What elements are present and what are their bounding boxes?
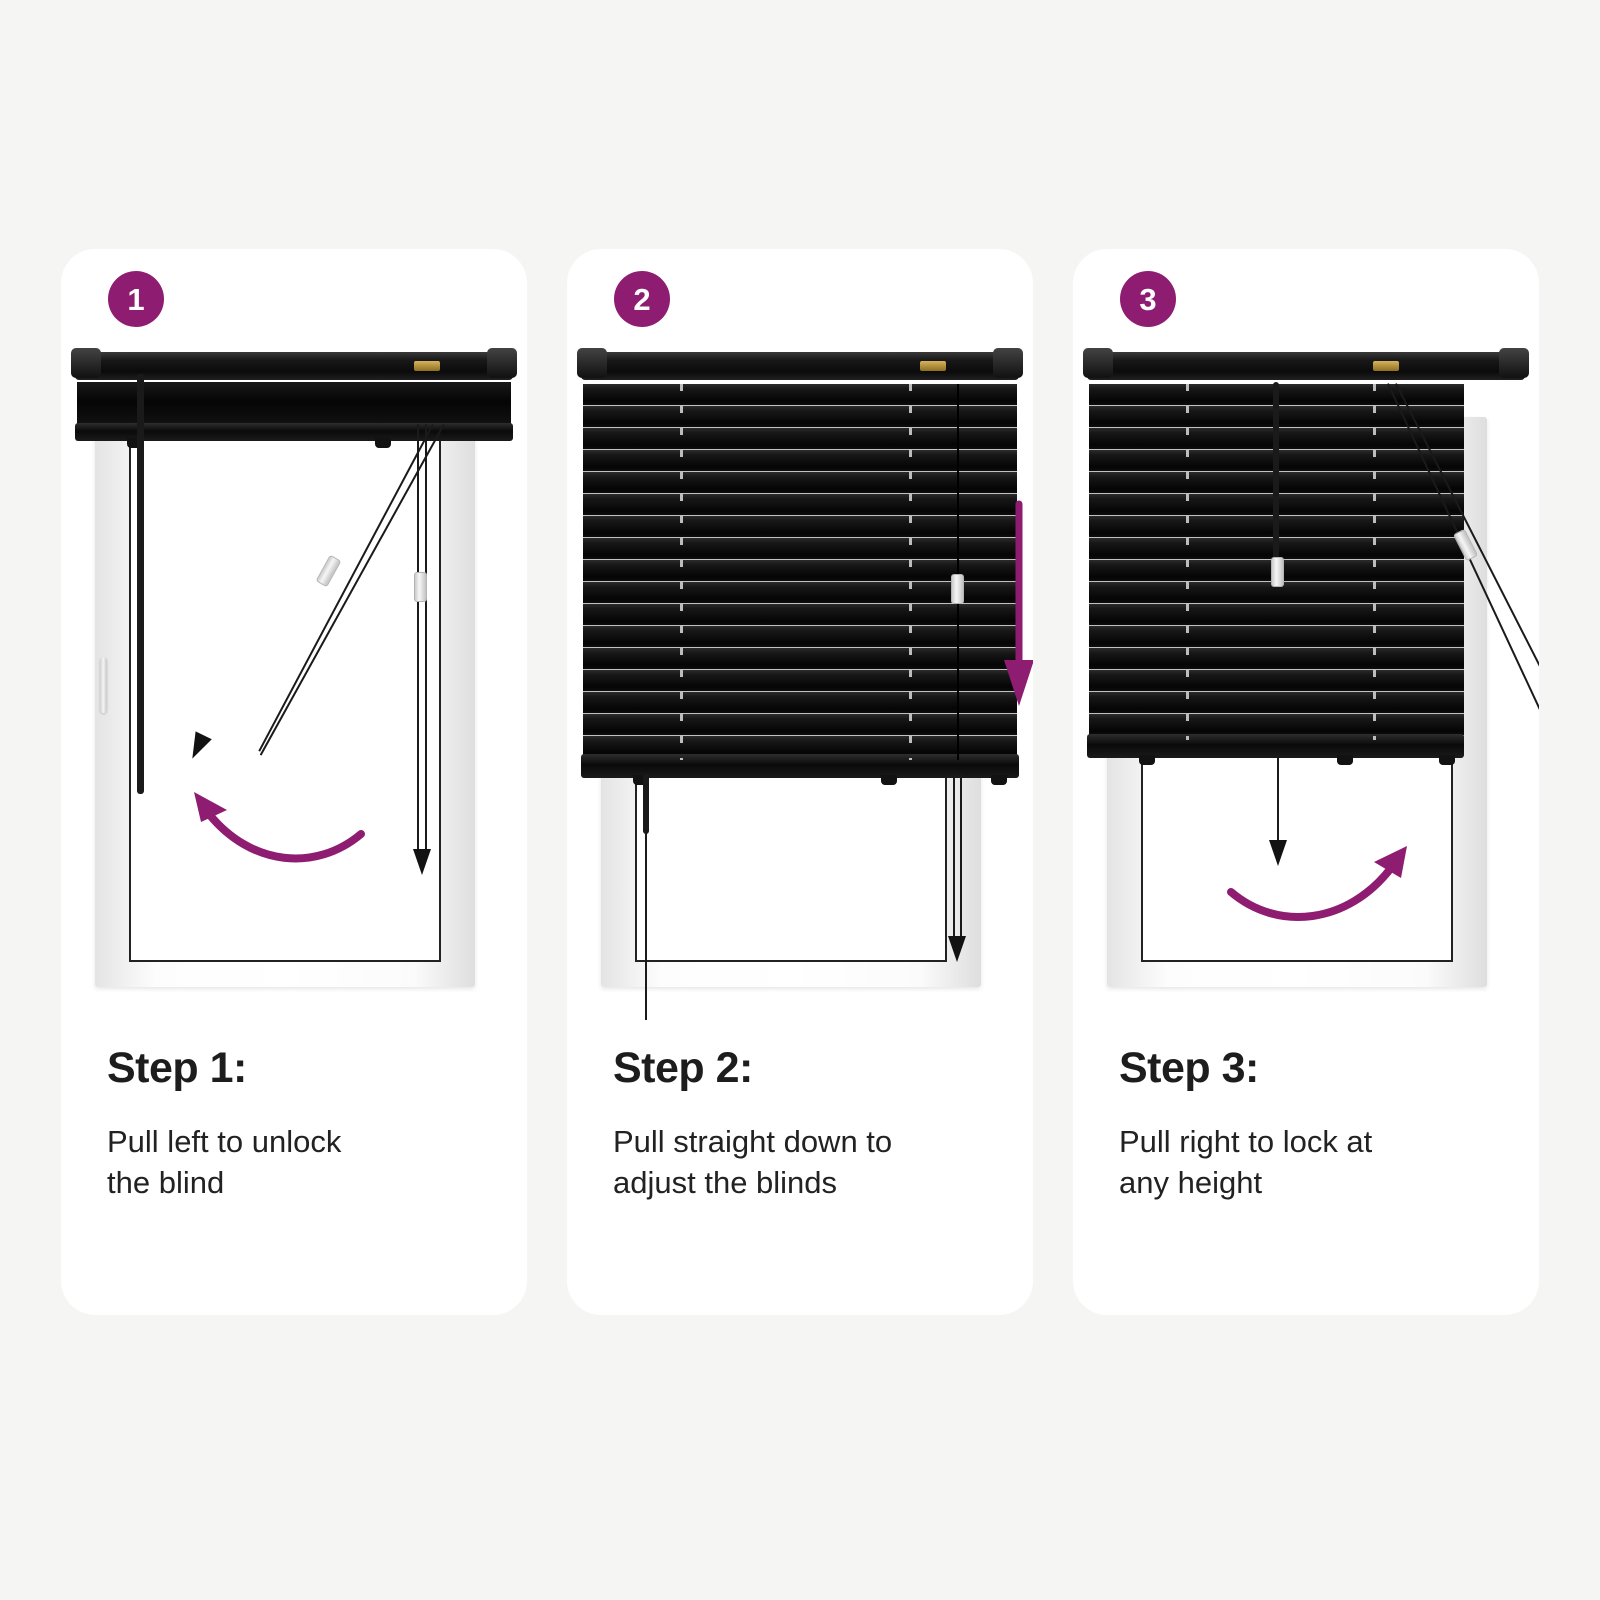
lift-cord-a: [953, 774, 955, 944]
cord-tassel[interactable]: [948, 936, 966, 962]
step-desc-line1: Pull straight down to: [613, 1122, 1003, 1163]
lift-cord-b: [960, 774, 962, 944]
tilt-wand-cord: [1273, 382, 1279, 562]
caption-step-3: Step 3: Pull right to lock at any height: [1119, 1044, 1509, 1204]
lift-cord-d: [425, 424, 427, 854]
step-desc-1: Pull left to unlock the blind: [107, 1122, 497, 1204]
illustration-step-3: [1073, 344, 1539, 1024]
step-number-badge-1: 1: [108, 271, 164, 327]
step-title-2: Step 2:: [613, 1044, 1003, 1093]
caption-step-2: Step 2: Pull straight down to adjust the…: [613, 1044, 1003, 1204]
caption-step-1: Step 1: Pull left to unlock the blind: [107, 1044, 497, 1204]
cord-lock-mechanism: [920, 361, 946, 371]
blind-bottom-rail: [1087, 734, 1464, 758]
ladder-cord-right: [909, 384, 912, 760]
step-desc-line1: Pull right to lock at: [1119, 1122, 1509, 1163]
illustration-step-1: [61, 344, 527, 1024]
cord-toggle-vertical[interactable]: [1271, 557, 1284, 587]
cord-tassel-vertical[interactable]: [1269, 840, 1287, 866]
step-desc-2: Pull straight down to adjust the blinds: [613, 1122, 1003, 1204]
blind-headrail: [581, 352, 1019, 380]
instruction-steps-board: 1: [0, 0, 1600, 1600]
step-desc-line2: adjust the blinds: [613, 1163, 1003, 1204]
step-desc-line2: the blind: [107, 1163, 497, 1204]
ladder-cord-left: [1186, 384, 1189, 740]
window-handle: [100, 657, 107, 713]
step-number-badge-3: 3: [1120, 271, 1176, 327]
cord-lock-mechanism: [414, 361, 440, 371]
step-desc-3: Pull right to lock at any height: [1119, 1122, 1509, 1204]
step-title-3: Step 3:: [1119, 1044, 1509, 1093]
ladder-cord-right: [1373, 384, 1376, 740]
tilt-cord-tail: [645, 832, 647, 1020]
step-title-1: Step 1:: [107, 1044, 497, 1093]
cord-tassel-vertical[interactable]: [413, 849, 431, 875]
ladder-cord-left: [680, 384, 683, 760]
lift-cord-through-slats: [957, 384, 959, 760]
step-card-2: 2: [567, 249, 1033, 1315]
lift-cord-c: [417, 424, 419, 854]
step-card-3: 3: [1073, 249, 1539, 1315]
blind-slats: [583, 384, 1017, 760]
tilt-wand-cord: [643, 774, 649, 834]
cord-toggle-vertical[interactable]: [414, 572, 427, 602]
step-desc-line2: any height: [1119, 1163, 1509, 1204]
tilt-wand-cord: [137, 374, 144, 794]
illustration-step-2: [567, 344, 1033, 1024]
step-number-badge-2: 2: [614, 271, 670, 327]
cord-lock-mechanism: [1373, 361, 1399, 371]
cord-toggle[interactable]: [951, 574, 964, 604]
lift-cord-c: [1277, 756, 1279, 846]
step-desc-line1: Pull left to unlock: [107, 1122, 497, 1163]
step-card-1: 1: [61, 249, 527, 1315]
blind-headrail: [1087, 352, 1525, 380]
